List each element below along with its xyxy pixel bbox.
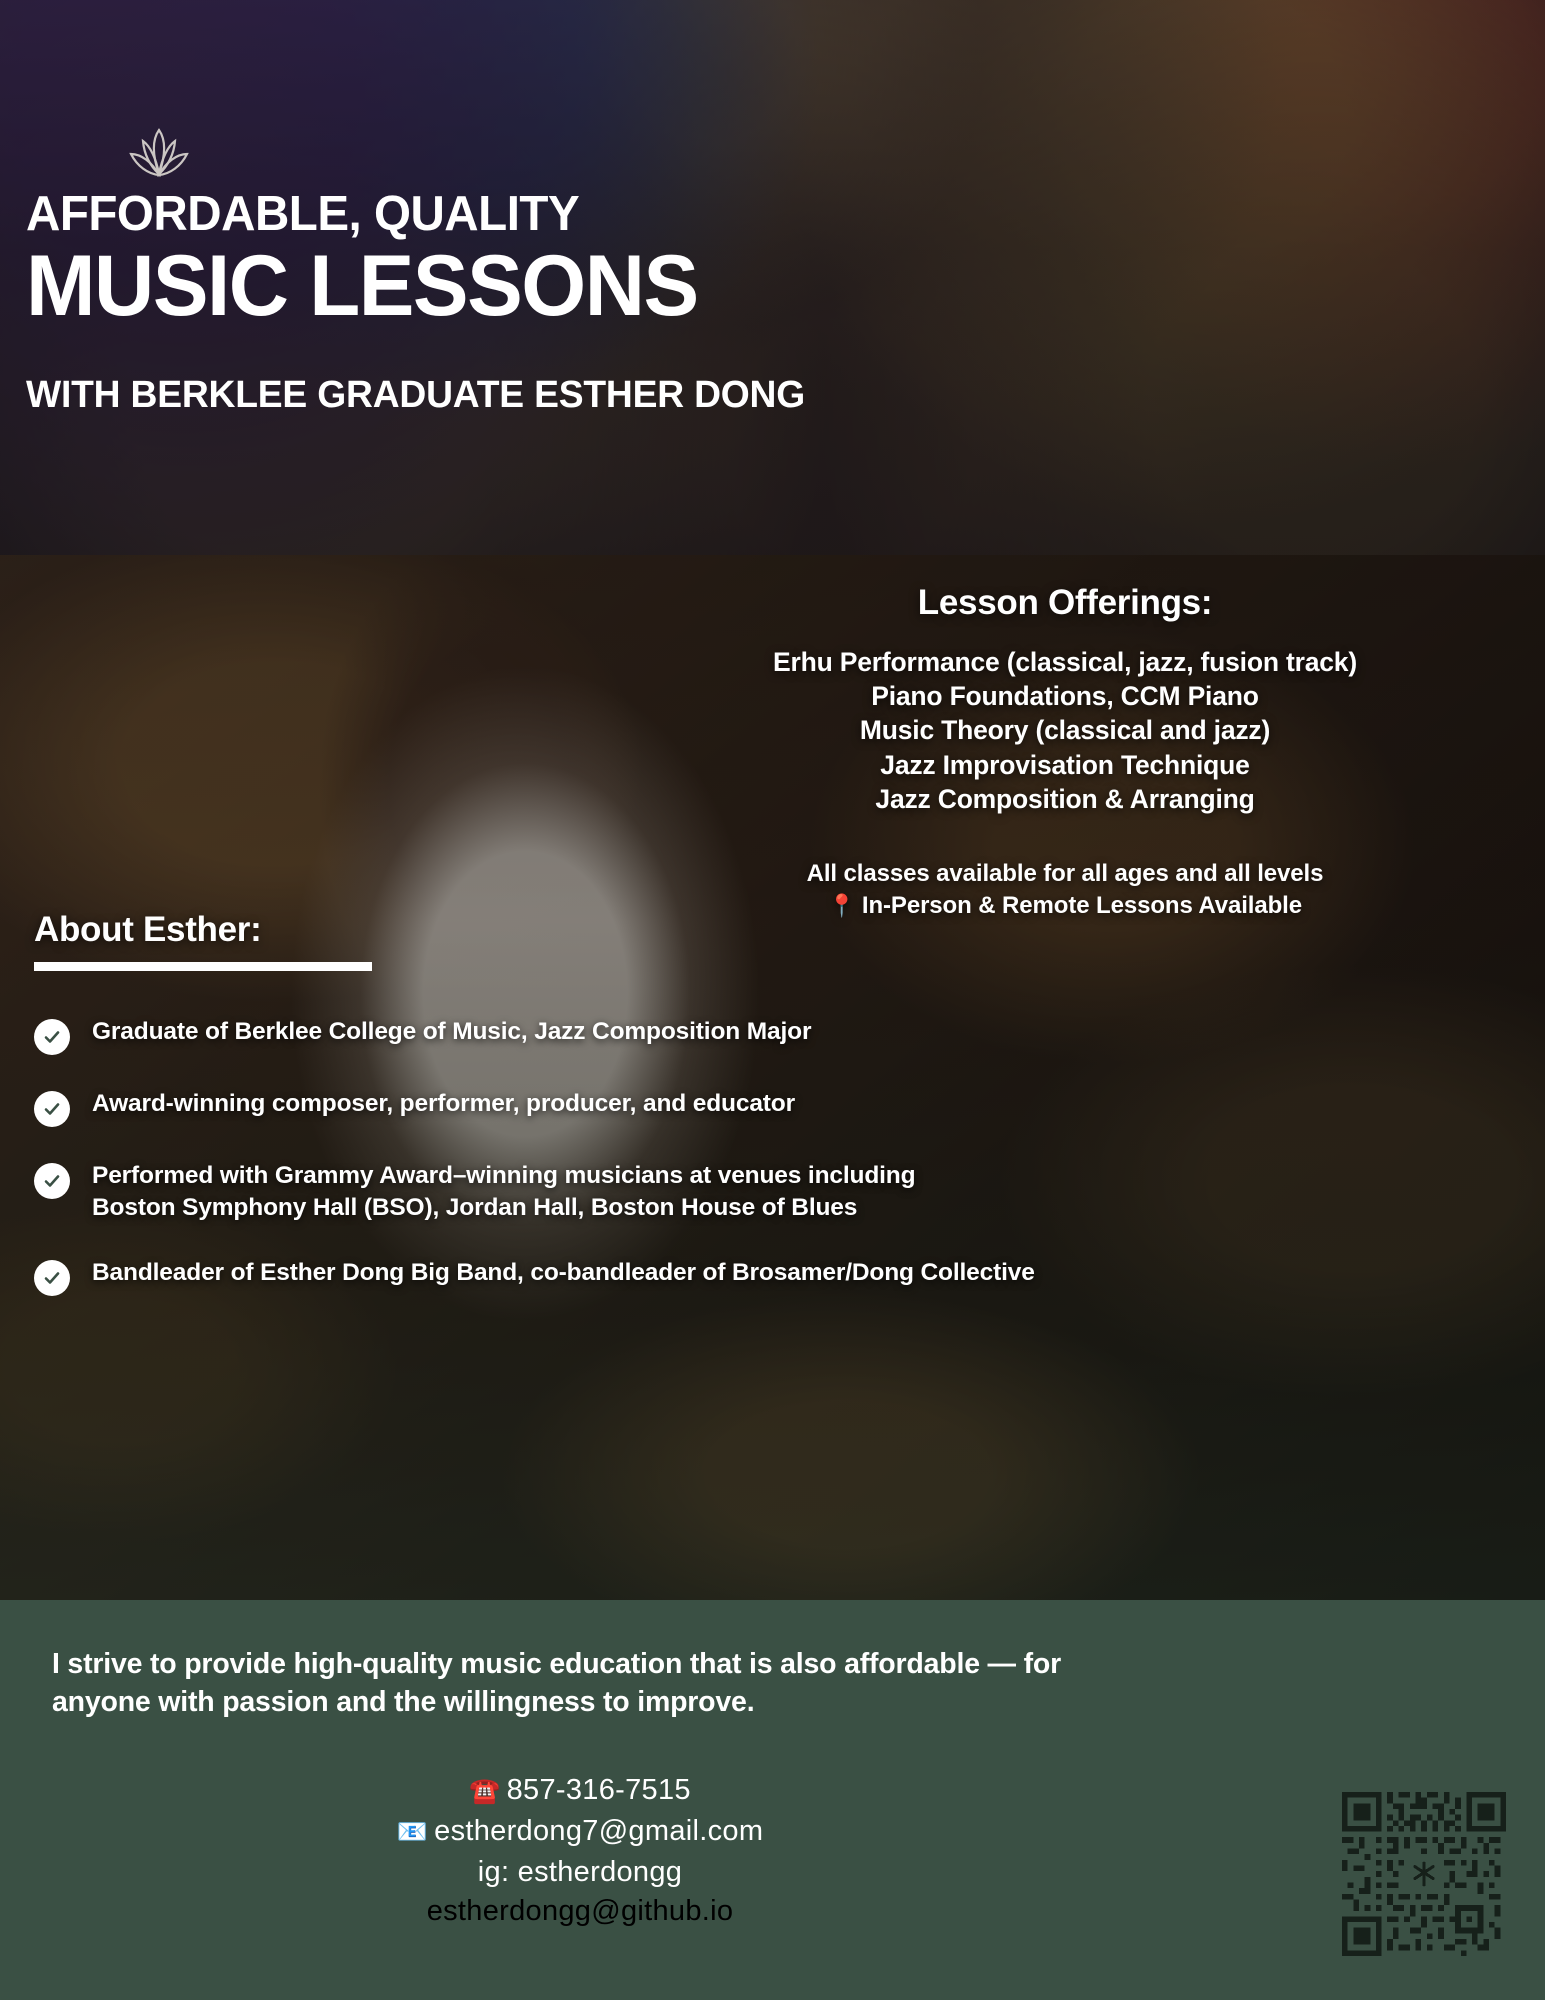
lesson-offering-item: Music Theory (classical and jazz): [605, 713, 1525, 747]
mission-statement: I strive to provide high-quality music e…: [52, 1645, 1152, 1722]
check-circle-icon: [34, 1019, 70, 1055]
contact-phone-row[interactable]: ☎️857-316-7515: [0, 1770, 1160, 1811]
check-circle-icon: [34, 1260, 70, 1296]
hero-section: AFFORDABLE, QUALITY MUSIC LESSONS WITH B…: [0, 0, 1545, 555]
contact-email-row[interactable]: 📧estherdong7@gmail.com: [0, 1811, 1160, 1852]
bullet-line-1: Performed with Grammy Award–winning musi…: [92, 1162, 915, 1189]
middle-section: Lesson Offerings: Erhu Performance (clas…: [0, 555, 1545, 1600]
about-esther-divider: [34, 962, 372, 971]
bullet-text: Award-winning composer, performer, produ…: [92, 1088, 795, 1120]
qr-code-icon[interactable]: [1342, 1790, 1506, 1958]
contact-website[interactable]: estherdongg@github.io: [0, 1895, 1160, 1928]
flyer-page: AFFORDABLE, QUALITY MUSIC LESSONS WITH B…: [0, 0, 1545, 2000]
lesson-offering-item: Erhu Performance (classical, jazz, fusio…: [605, 645, 1525, 679]
contact-instagram[interactable]: ig: estherdongg: [0, 1852, 1160, 1893]
lesson-offering-item: Jazz Improvisation Technique: [605, 748, 1525, 782]
bullet-line-1: Graduate of Berklee College of Music, Ja…: [92, 1018, 811, 1045]
list-item: Bandleader of Esther Dong Big Band, co-b…: [34, 1257, 1514, 1296]
bullet-text: Performed with Grammy Award–winning musi…: [92, 1160, 915, 1224]
envelope-icon: 📧: [397, 1818, 428, 1846]
lotus-logo-icon: [128, 124, 190, 180]
about-esther-title: About Esther:: [34, 910, 1514, 950]
check-circle-icon: [34, 1163, 70, 1199]
about-esther-bullets: Graduate of Berklee College of Music, Ja…: [34, 1016, 1514, 1296]
lesson-offerings-title: Lesson Offerings:: [605, 583, 1525, 623]
bullet-line-1: Award-winning composer, performer, produ…: [92, 1090, 795, 1117]
lesson-offerings-block: Lesson Offerings: Erhu Performance (clas…: [605, 583, 1525, 923]
headline-line-3: WITH BERKLEE GRADUATE ESTHER DONG: [26, 375, 1202, 417]
contact-email[interactable]: estherdong7@gmail.com: [434, 1815, 763, 1847]
lesson-offering-item: Jazz Composition & Arranging: [605, 782, 1525, 816]
hero-headline-block: AFFORDABLE, QUALITY MUSIC LESSONS WITH B…: [26, 190, 1226, 417]
check-circle-icon: [34, 1091, 70, 1127]
list-item: Performed with Grammy Award–winning musi…: [34, 1160, 1514, 1224]
bullet-line-2: Boston Symphony Hall (BSO), Jordan Hall,…: [92, 1194, 857, 1221]
availability-line-all-ages: All classes available for all ages and a…: [605, 858, 1525, 890]
footer-section: I strive to provide high-quality music e…: [0, 1600, 1545, 2000]
bullet-line-1: Bandleader of Esther Dong Big Band, co-b…: [92, 1259, 1035, 1286]
contact-phone[interactable]: 857-316-7515: [507, 1774, 691, 1806]
headline-line-1: AFFORDABLE, QUALITY: [26, 190, 1190, 239]
about-esther-block: About Esther: Graduate of Berklee Colleg…: [34, 910, 1514, 1329]
contact-block: ☎️857-316-7515 📧estherdong7@gmail.com ig…: [0, 1770, 1160, 1894]
lesson-offering-item: Piano Foundations, CCM Piano: [605, 679, 1525, 713]
lesson-offerings-list: Erhu Performance (classical, jazz, fusio…: [605, 645, 1525, 816]
list-item: Award-winning composer, performer, produ…: [34, 1088, 1514, 1127]
list-item: Graduate of Berklee College of Music, Ja…: [34, 1016, 1514, 1055]
telephone-icon: ☎️: [469, 1777, 500, 1805]
bullet-text: Graduate of Berklee College of Music, Ja…: [92, 1016, 811, 1048]
headline-line-2: MUSIC LESSONS: [26, 243, 1190, 331]
bullet-text: Bandleader of Esther Dong Big Band, co-b…: [92, 1257, 1035, 1289]
